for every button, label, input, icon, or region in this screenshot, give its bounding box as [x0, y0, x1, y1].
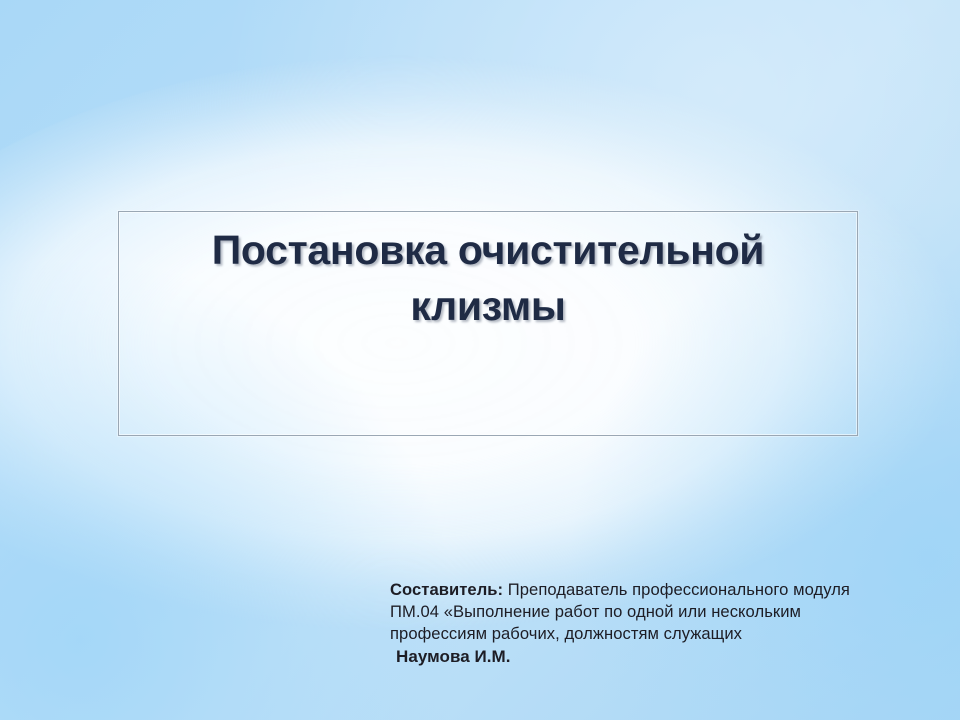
author-credit-block: Составитель: Преподаватель профессиональ…	[390, 579, 910, 669]
author-role: Преподаватель профессионального модуля	[503, 580, 850, 599]
title-frame-border	[118, 211, 858, 436]
author-name: Наумова И.М.	[390, 645, 910, 669]
author-credit-line-1: Составитель: Преподаватель профессиональ…	[390, 579, 910, 601]
author-credit-line-3: профессиям рабочих, должностям служащих	[390, 623, 910, 645]
author-label: Составитель:	[390, 580, 503, 599]
author-credit-line-2: ПМ.04 «Выполнение работ по одной или нес…	[390, 601, 910, 623]
presentation-slide: Постановка очистительной клизмы Составит…	[0, 0, 960, 720]
